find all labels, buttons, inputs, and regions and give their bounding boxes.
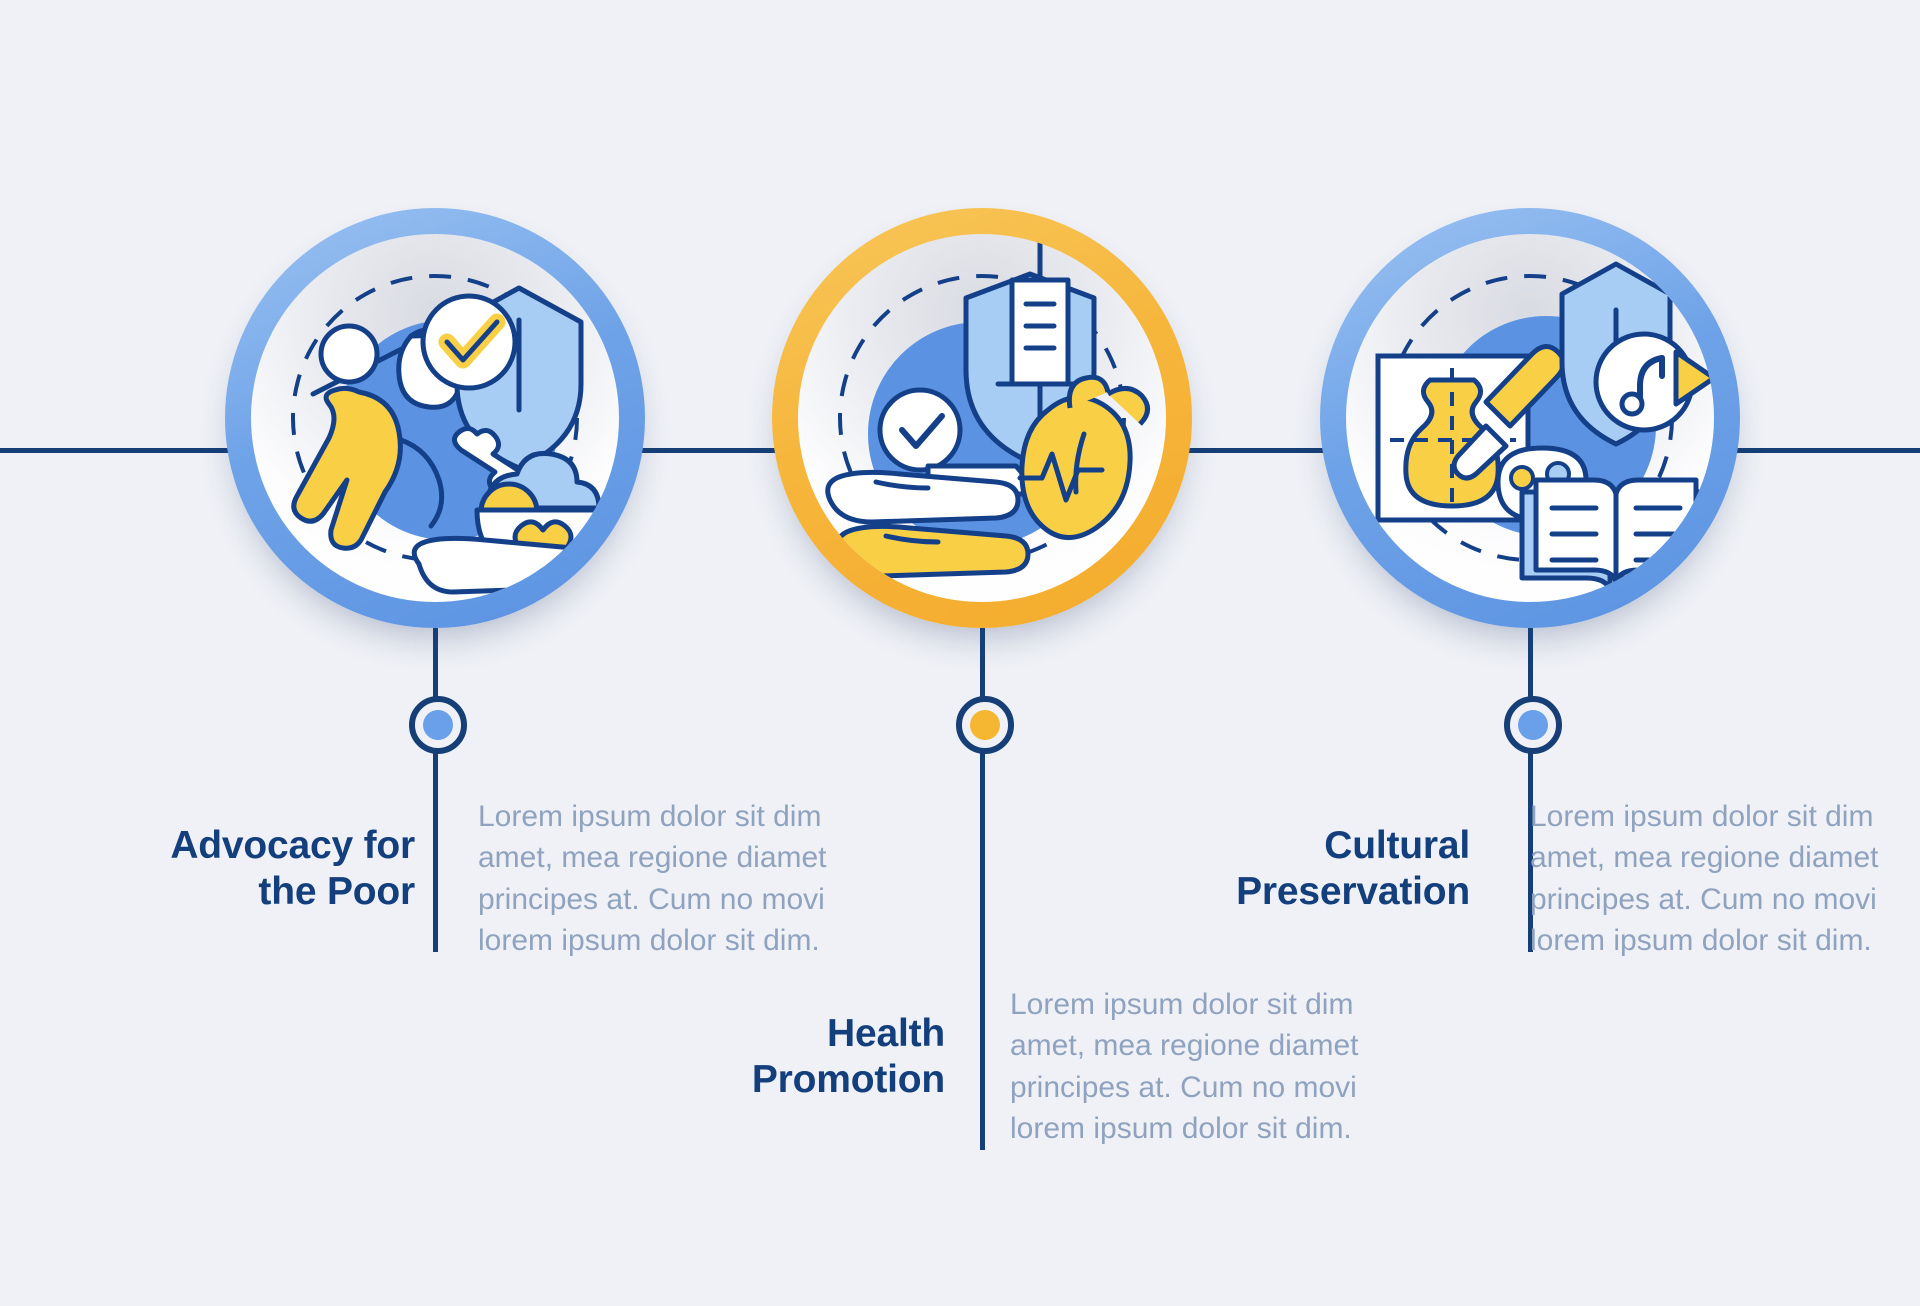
step-dot-advocacy[interactable] <box>409 696 467 754</box>
step-body-health: Lorem ipsum dolor sit dim amet, mea regi… <box>1010 984 1380 1150</box>
stem-advocacy-upper <box>433 628 438 700</box>
stem-health-upper <box>980 628 985 700</box>
stem-advocacy-lower <box>433 752 438 952</box>
step-body-culture: Lorem ipsum dolor sit dim amet, mea regi… <box>1530 796 1900 962</box>
step-label-advocacy-line1: Advocacy for <box>110 823 415 869</box>
step-circle-health[interactable] <box>772 208 1192 628</box>
health-promotion-icon <box>798 234 1166 602</box>
step-label-culture-line1: Cultural <box>1000 823 1470 869</box>
step-dot-core-advocacy <box>423 710 453 740</box>
step-label-advocacy: Advocacy for the Poor <box>110 823 415 914</box>
step-circle-advocacy[interactable] <box>225 208 645 628</box>
cultural-preservation-icon <box>1346 234 1714 602</box>
step-label-culture: Cultural Preservation <box>1000 823 1470 914</box>
step-label-health-line2: Promotion <box>640 1057 945 1103</box>
step-dot-culture[interactable] <box>1504 696 1562 754</box>
infographic-canvas: Advocacy for the Poor Lorem ipsum dolor … <box>0 0 1920 1306</box>
step-dot-core-culture <box>1518 710 1548 740</box>
step-label-health: Health Promotion <box>640 1011 945 1102</box>
step-dot-health[interactable] <box>956 696 1014 754</box>
step-body-advocacy: Lorem ipsum dolor sit dim amet, mea regi… <box>478 796 848 962</box>
advocacy-poverty-icon <box>251 234 619 602</box>
step-label-culture-line2: Preservation <box>1000 869 1470 915</box>
step-label-health-line1: Health <box>640 1011 945 1057</box>
step-dot-core-health <box>970 710 1000 740</box>
stem-health-lower <box>980 752 985 1150</box>
step-label-advocacy-line2: the Poor <box>110 869 415 915</box>
step-circle-culture[interactable] <box>1320 208 1740 628</box>
stem-culture-upper <box>1528 628 1533 700</box>
